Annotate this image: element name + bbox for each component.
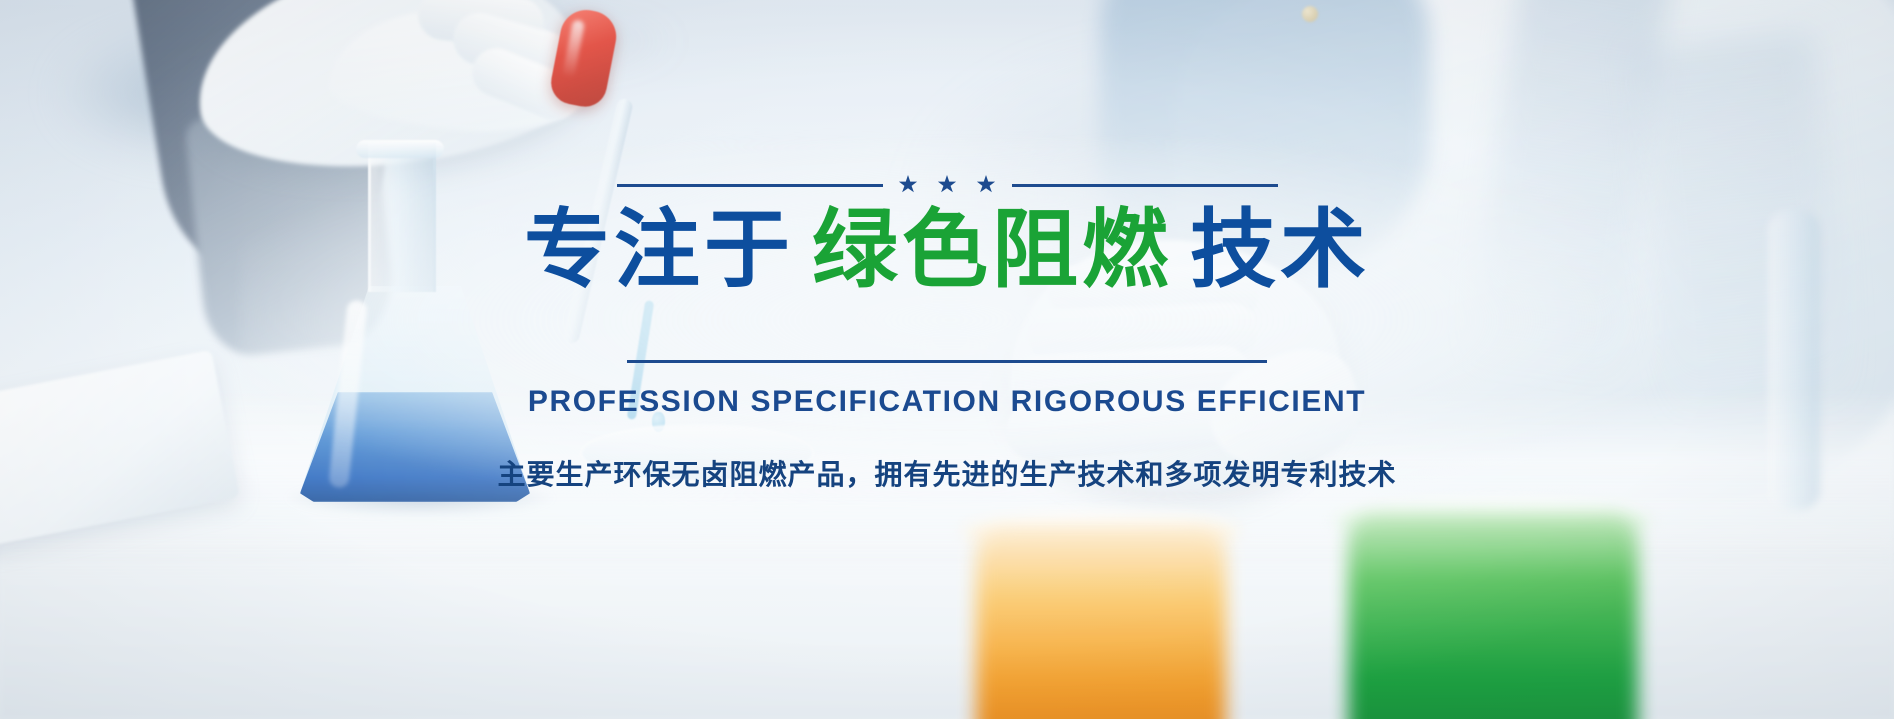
description-chinese: 主要生产环保无卤阻燃产品，拥有先进的生产技术和多项发明专利技术	[497, 453, 1396, 493]
page-title: 专注于 绿色阻燃 技术	[524, 205, 1370, 296]
star-icon	[938, 175, 957, 194]
star-icon	[899, 175, 918, 194]
star-group	[899, 175, 996, 194]
rule-line-right	[1012, 184, 1278, 187]
beaker-orange	[976, 529, 1226, 719]
rule-line-left	[617, 184, 883, 187]
rule-line-bottom	[627, 360, 1267, 363]
banner-content: 专注于 绿色阻燃 技术 PROFESSION SPECIFICATION RIG…	[0, 0, 1894, 493]
subtitle-english: PROFESSION SPECIFICATION RIGOROUS EFFICI…	[528, 385, 1366, 419]
hero-banner: 专注于 绿色阻燃 技术 PROFESSION SPECIFICATION RIG…	[0, 0, 1894, 719]
beaker-green	[1348, 515, 1638, 719]
headline-part-1: 专注于	[524, 205, 794, 296]
star-icon	[977, 175, 996, 194]
decorative-rule-with-stars	[617, 176, 1278, 195]
headline-part-3: 技术	[1190, 205, 1370, 296]
headline-part-2: 绿色阻燃	[812, 205, 1172, 296]
